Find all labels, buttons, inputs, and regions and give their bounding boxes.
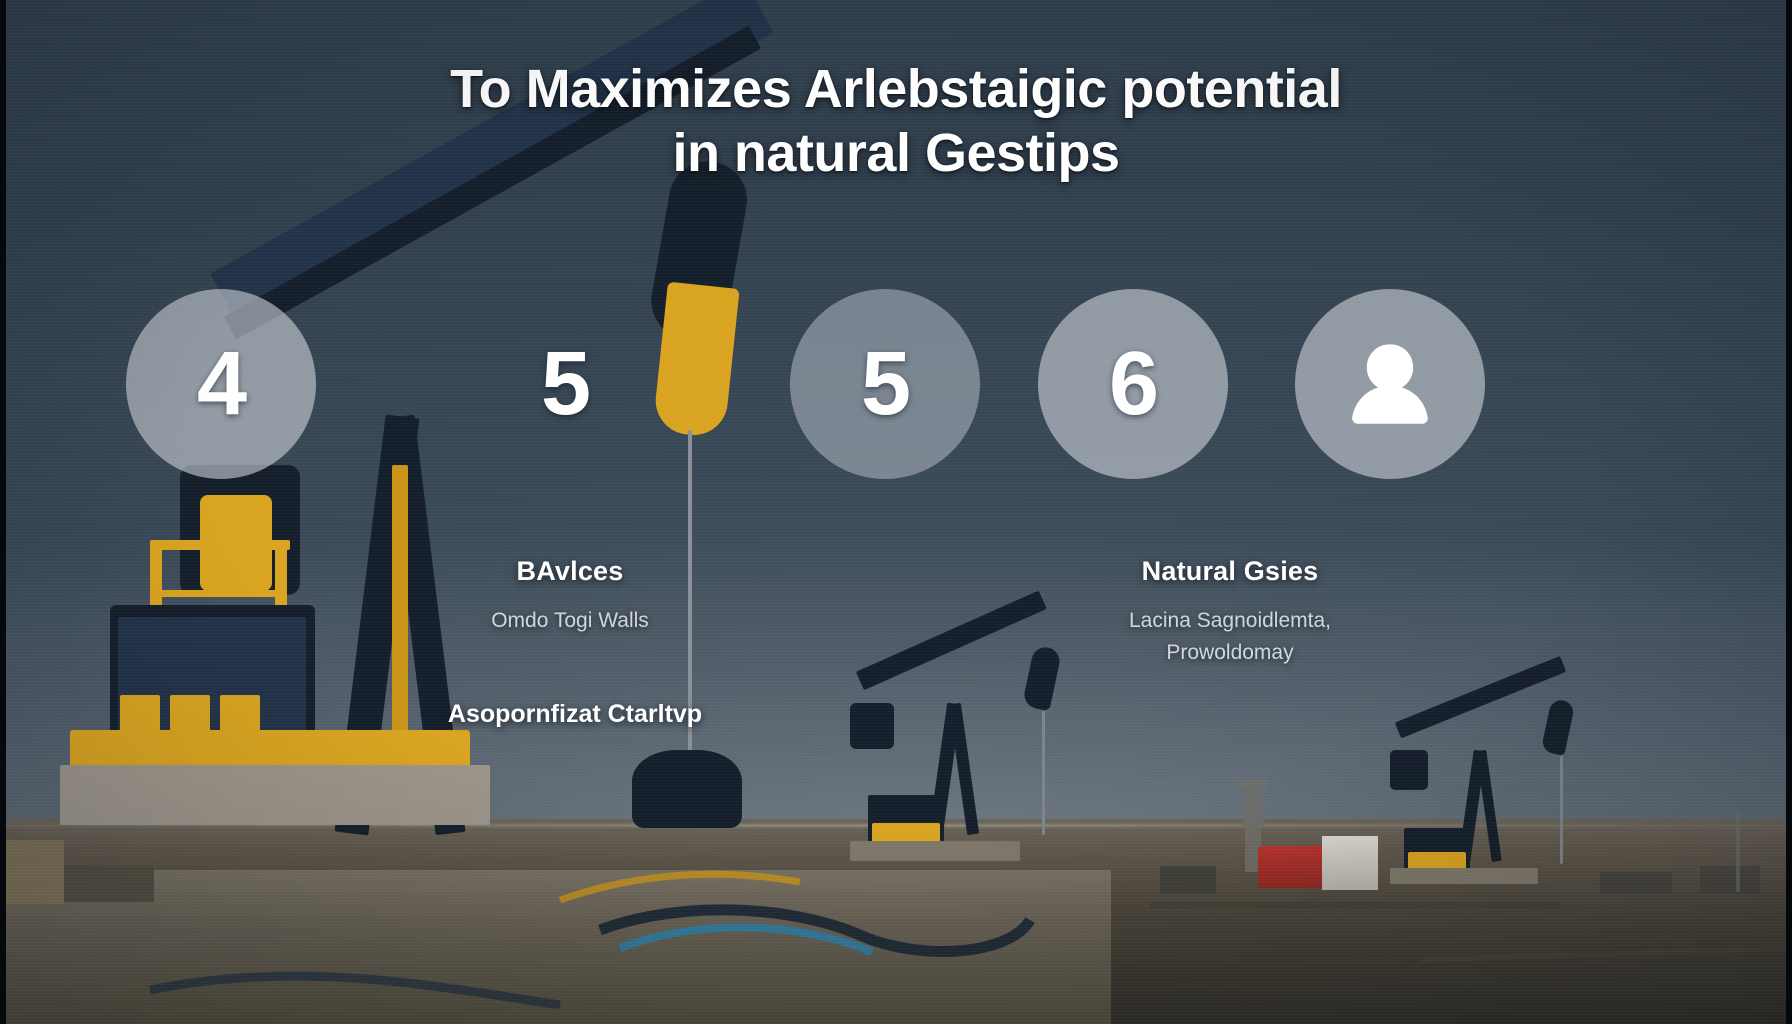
person-icon: [1337, 331, 1443, 437]
slide-canvas: To Maximizes Arlebstaigic potential in n…: [0, 0, 1792, 1024]
column-right-body-line-2: Prowoldomay: [1060, 637, 1400, 669]
left-shed: [0, 840, 64, 904]
white-tank: [1322, 836, 1378, 890]
pumpjack-right: [1390, 700, 1620, 900]
column-right-body-line-1: Lacina Sagnoidlemta,: [1060, 605, 1400, 637]
step-number-2: 5: [541, 339, 589, 429]
pumpjack-mid: [850, 645, 1110, 875]
step-circle-1[interactable]: 4: [126, 289, 316, 479]
column-left-heading: BAvlces: [405, 556, 735, 587]
ground-pad: [0, 870, 1111, 1024]
step-circle-4[interactable]: 6: [1038, 289, 1228, 479]
column-left-extra: Asopornfizat Ctarltvp: [405, 700, 745, 729]
left-edge-bar: [0, 0, 6, 1024]
right-edge-bar: [1786, 0, 1792, 1024]
step-circle-2[interactable]: 5: [470, 289, 660, 479]
step-circle-5[interactable]: [1295, 289, 1485, 479]
column-right: Natural Gsies Lacina Sagnoidlemta, Prowo…: [1060, 556, 1400, 668]
title-line-2: in natural Gestips: [200, 122, 1592, 186]
distant-tower-cap: [1238, 780, 1268, 789]
step-number-3: 5: [861, 339, 909, 429]
column-left: BAvlces Omdo Togi Walls: [405, 556, 735, 637]
distant-tower-cap3: [1242, 820, 1264, 827]
step-number-4: 6: [1109, 339, 1157, 429]
distant-tower-cap2: [1240, 800, 1266, 807]
left-shed-2: [64, 866, 154, 902]
distant-building-a: [1160, 866, 1216, 894]
title-line-1: To Maximizes Arlebstaigic potential: [450, 59, 1342, 119]
step-number-1: 4: [197, 339, 245, 429]
antenna-pole: [1736, 812, 1740, 892]
distant-building-c: [1700, 866, 1760, 894]
column-left-body: Omdo Togi Walls: [405, 605, 735, 637]
page-title: To Maximizes Arlebstaigic potential in n…: [0, 58, 1792, 185]
step-circle-3[interactable]: 5: [790, 289, 980, 479]
pumpjack-foreground: [60, 165, 760, 865]
column-right-heading: Natural Gsies: [1060, 556, 1400, 587]
